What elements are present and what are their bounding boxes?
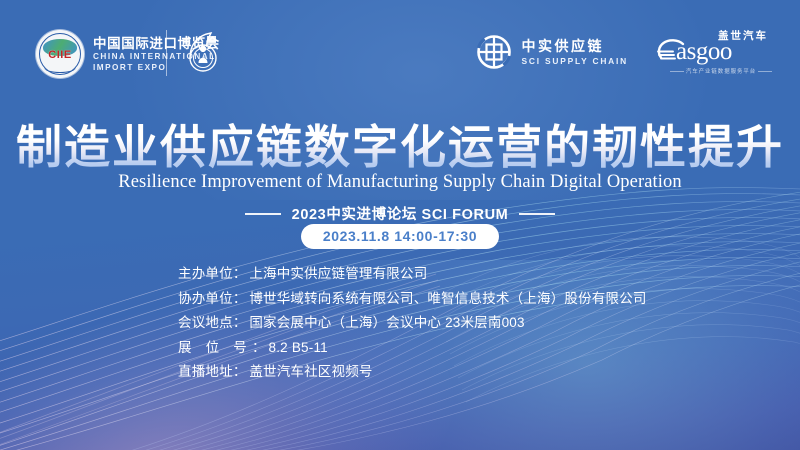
event-detail-colon: ： — [233, 311, 250, 336]
header-divider — [166, 30, 167, 76]
poster-title-en: Resilience Improvement of Manufacturing … — [0, 170, 800, 194]
sci-globe-icon — [476, 34, 512, 70]
event-detail-colon: ： — [233, 287, 250, 312]
event-detail-value: 盖世汽车社区视频号 — [249, 360, 372, 385]
gasgoo-tagline: 汽车产业链数据服务平台 — [672, 67, 770, 75]
event-poster: CIIE 中国国际进口博览会 CHINA INTERNATIONAL IMPOR… — [0, 0, 800, 450]
event-detail-colon: ： — [233, 262, 250, 287]
sci-name-cn: 中实供应链 — [521, 39, 628, 54]
forum-dash-left — [245, 213, 281, 215]
sci-wordmark: 中实供应链 SCI SUPPLY CHAIN — [521, 39, 628, 66]
event-detail-row: 主办单位：上海中实供应链管理有限公司 — [178, 262, 647, 287]
event-detail-label: 主办单位 — [178, 262, 233, 287]
event-detail-row: 协办单位：博世华域转向系统有限公司、唯智信息技术（上海）股份有限公司 — [178, 287, 647, 312]
hongqiao-forum-icon — [181, 31, 225, 77]
sci-name-en: SCI SUPPLY CHAIN — [521, 56, 628, 66]
event-detail-label: 直播地址 — [178, 360, 233, 385]
ciie-seal-icon: CIIE — [36, 30, 84, 78]
event-detail-value: 博世华域转向系统有限公司、唯智信息技术（上海）股份有限公司 — [249, 287, 646, 312]
forum-label: 2023中实进博论坛 SCI FORUM — [292, 203, 509, 224]
event-detail-value: 上海中实供应链管理有限公司 — [249, 262, 427, 287]
poster-header: CIIE 中国国际进口博览会 CHINA INTERNATIONAL IMPOR… — [0, 0, 800, 100]
event-detail-colon: ： — [233, 360, 250, 385]
event-details: 主办单位：上海中实供应链管理有限公司协办单位：博世华域转向系统有限公司、唯智信息… — [178, 262, 647, 385]
poster-title-cn: 制造业供应链数字化运营的韧性提升 — [0, 118, 800, 176]
event-detail-label: 协办单位 — [178, 287, 233, 312]
event-detail-row: 展 位 号：8.2 B5-11 — [178, 336, 647, 361]
sci-supply-chain-logo: 中实供应链 SCI SUPPLY CHAIN — [476, 34, 628, 70]
event-detail-row: 会议地点：国家会展中心（上海）会议中心 23米层南003 — [178, 311, 647, 336]
event-detail-value: 国家会展中心（上海）会议中心 23米层南003 — [249, 311, 524, 336]
forum-label-row: 2023中实进博论坛 SCI FORUM — [0, 203, 800, 224]
ciie-seal-text: CIIE — [36, 49, 84, 61]
date-time-text: 2023.11.8 14:00-17:30 — [301, 224, 499, 249]
partner-logos: 中实供应链 SCI SUPPLY CHAIN 盖世汽车 asgoo 汽车产业链数… — [476, 30, 770, 74]
event-detail-row: 直播地址：盖世汽车社区视频号 — [178, 360, 647, 385]
event-detail-label: 会议地点 — [178, 311, 233, 336]
forum-dash-right — [519, 213, 555, 215]
date-time-badge: 2023.11.8 14:00-17:30 — [0, 224, 800, 249]
gasgoo-logo: 盖世汽车 asgoo 汽车产业链数据服务平台 — [658, 30, 770, 74]
event-detail-value: 8.2 B5-11 — [269, 336, 328, 361]
ciie-seal-arc — [44, 62, 76, 73]
event-detail-label: 展 位 号 — [178, 336, 252, 361]
gasgoo-wordmark: asgoo — [676, 39, 732, 65]
event-detail-colon: ： — [252, 336, 269, 361]
